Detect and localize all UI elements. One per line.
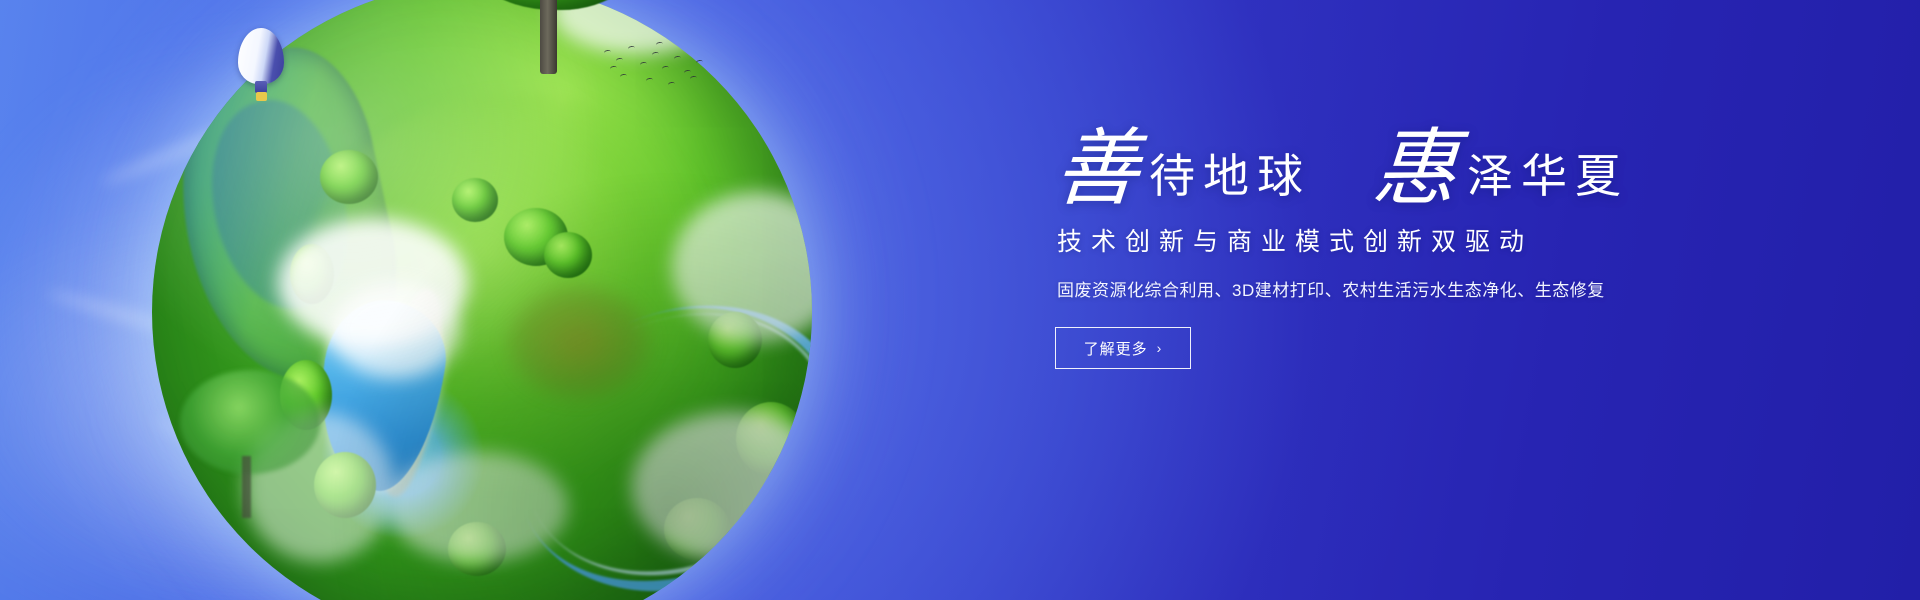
tree-clump-icon (290, 244, 334, 304)
headline-rest-2: 泽华夏 (1457, 154, 1629, 212)
cloud-icon (244, 412, 394, 562)
tree-clump-icon (314, 452, 376, 518)
tree-clump-icon (452, 178, 498, 222)
cloud-icon (330, 282, 460, 378)
tree-clump-icon (320, 150, 378, 204)
hero-copy-block: 善 待地球 惠 泽华夏 技术创新与商业模式创新双驱动 固废资源化综合利用、3D建… (1055, 128, 1775, 369)
hero-banner: 善 待地球 惠 泽华夏 技术创新与商业模式创新双驱动 固废资源化综合利用、3D建… (0, 0, 1920, 600)
learn-more-label: 了解更多 (1084, 338, 1148, 359)
mountain-ridge-icon (191, 87, 368, 322)
hero-description: 固废资源化综合利用、3D建材打印、农村生活污水生态净化、生态修复 (1057, 276, 1775, 301)
bare-ground-icon (504, 282, 654, 402)
tree-clump-icon (448, 522, 506, 576)
tree-crown (180, 370, 320, 474)
cloud-icon (388, 452, 568, 562)
tree-trunk (242, 456, 251, 518)
balloon-basket (256, 92, 267, 101)
tree-trunk (540, 0, 557, 74)
page-title: 善 待地球 惠 泽华夏 (1055, 128, 1775, 212)
hero-subtitle: 技术创新与商业模式创新双驱动 (1057, 222, 1775, 258)
headline-lead-char-1: 善 (1052, 128, 1142, 212)
hot-air-balloon-icon (238, 28, 284, 110)
cloud-icon (632, 412, 812, 562)
cloud-icon (278, 218, 468, 348)
headline-lead-char-2: 惠 (1370, 128, 1460, 212)
headline-rest-1: 待地球 (1139, 154, 1311, 212)
tree-clump-icon (708, 312, 762, 368)
small-tree-icon (180, 370, 320, 520)
tree-clump-icon (544, 232, 592, 278)
learn-more-button[interactable]: 了解更多 › (1055, 327, 1191, 369)
tree-clump-icon (280, 360, 332, 430)
lake-shore-icon (366, 285, 454, 501)
tree-clump-icon (504, 208, 568, 266)
lake-icon (306, 292, 454, 498)
balloon-envelope (238, 28, 284, 84)
meadow-icon (302, 92, 732, 492)
chevron-right-icon: › (1157, 341, 1163, 355)
bird-flock-icon (556, 36, 706, 96)
cloud-icon (672, 192, 812, 342)
